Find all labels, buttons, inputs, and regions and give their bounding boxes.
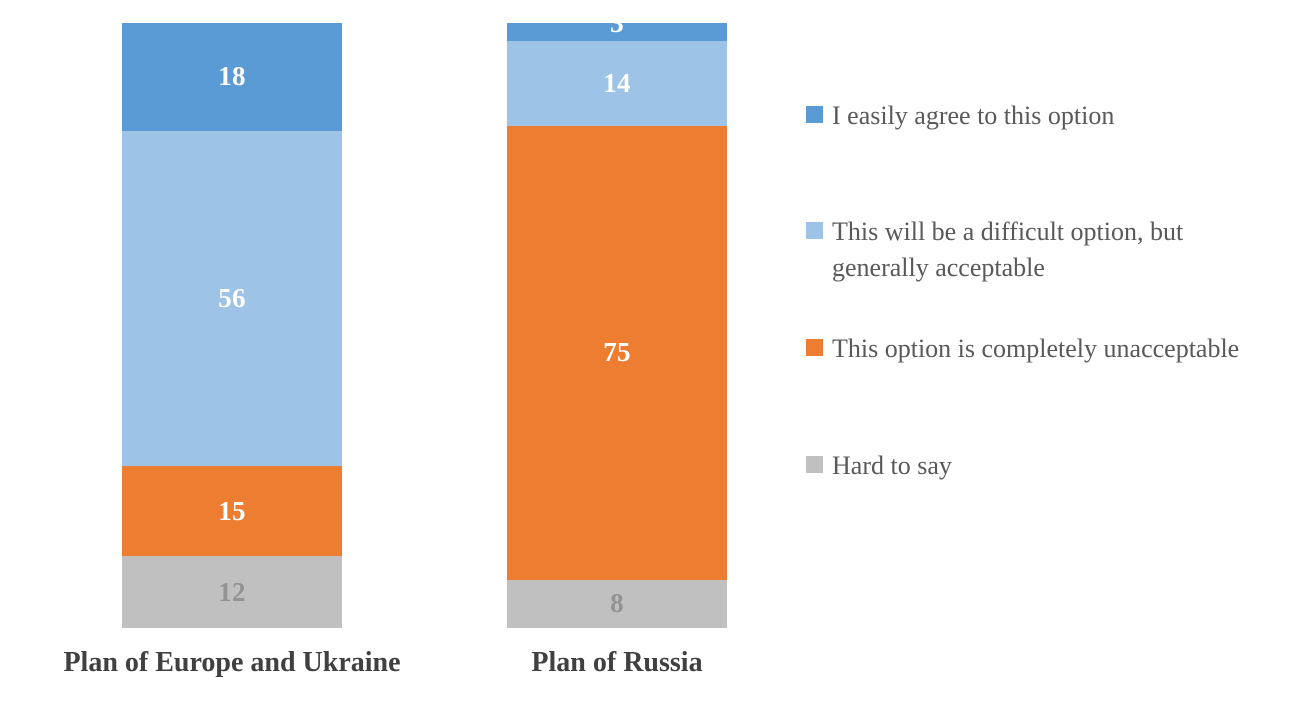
bar-stack: 314758: [507, 23, 727, 628]
bar-segment-value-label: 75: [603, 339, 630, 366]
legend-swatch-icon: [806, 106, 823, 123]
legend-item-label: This will be a difficult option, but gen…: [832, 214, 1282, 286]
bar-segment[interactable]: 15: [122, 466, 342, 556]
legend-swatch-icon: [806, 456, 823, 473]
legend-item-label: I easily agree to this option: [832, 98, 1114, 134]
legend-item[interactable]: This option is completely unacceptable: [806, 331, 1286, 367]
bar-segment-value-label: 8: [610, 590, 624, 617]
bar-segment-value-label: 14: [603, 70, 630, 97]
category-axis-label: Plan of Russia: [531, 648, 702, 677]
legend-item[interactable]: Hard to say: [806, 448, 1286, 484]
bar-segment[interactable]: 56: [122, 131, 342, 466]
bar-segment-value-label: 12: [218, 579, 245, 606]
legend-item-label: Hard to say: [832, 448, 952, 484]
bar-segment-value-label: 56: [218, 285, 245, 312]
bar-segment-value-label: 3: [610, 10, 624, 37]
legend-item-label: This option is completely unacceptable: [832, 331, 1239, 367]
plot-area: 18561512Plan of Europe and Ukraine314758…: [0, 0, 790, 706]
legend-item[interactable]: I easily agree to this option: [806, 98, 1286, 134]
stacked-bar-chart: 18561512Plan of Europe and Ukraine314758…: [0, 0, 1292, 706]
bar-segment[interactable]: 8: [507, 580, 727, 628]
bar-segment-value-label: 15: [218, 498, 245, 525]
legend-swatch-icon: [806, 222, 823, 239]
bar-segment[interactable]: 12: [122, 556, 342, 628]
bar-segment[interactable]: 14: [507, 41, 727, 126]
legend-item[interactable]: This will be a difficult option, but gen…: [806, 214, 1286, 286]
bar-segment[interactable]: 18: [122, 23, 342, 131]
legend-swatch-icon: [806, 339, 823, 356]
bar-segment[interactable]: 75: [507, 126, 727, 580]
bar-stack: 18561512: [122, 23, 342, 628]
bar-segment[interactable]: 3: [507, 23, 727, 41]
bar-group: 18561512Plan of Europe and Ukraine: [122, 0, 342, 706]
category-axis-label: Plan of Europe and Ukraine: [63, 648, 400, 677]
bar-group: 314758Plan of Russia: [507, 0, 727, 706]
bar-segment-value-label: 18: [218, 63, 245, 90]
